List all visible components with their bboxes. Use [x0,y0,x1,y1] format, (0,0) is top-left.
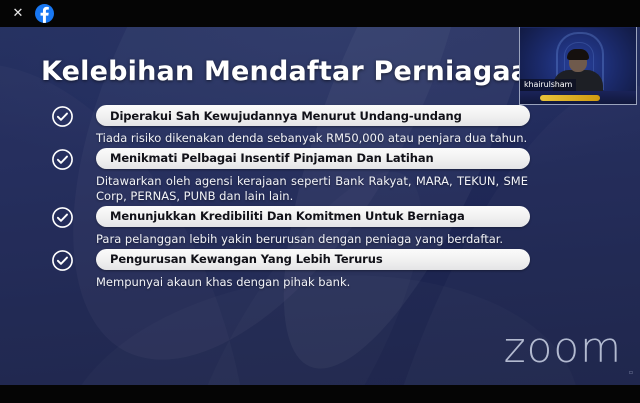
facebook-icon[interactable] [35,4,54,23]
benefits-list: Diperakui Sah Kewujudannya Menurut Undan… [0,105,640,292]
benefit-heading-pill: Menikmati Pelbagai Insentif Pinjaman Dan… [96,148,530,169]
close-icon-glyph: ✕ [13,7,24,20]
close-icon[interactable]: ✕ [6,2,30,26]
benefit-description: Tiada risiko dikenakan denda sebanyak RM… [96,131,528,146]
participant-name-label: khairulsham [520,79,576,91]
check-circle-icon [51,148,74,171]
benefit-heading: Menikmati Pelbagai Insentif Pinjaman Dan… [96,151,434,165]
broadcast-ticker-bar [540,95,600,101]
check-circle-icon [51,105,74,128]
video-feed: khairulsham [520,16,636,104]
speaker-video-tile[interactable]: khairulsham [519,15,637,105]
check-circle-icon [51,206,74,229]
benefit-heading-pill: Pengurusan Kewangan Yang Lebih Terurus [96,249,530,270]
top-browser-bar: ✕ [0,0,640,27]
benefit-heading: Pengurusan Kewangan Yang Lebih Terurus [96,252,383,266]
check-circle-icon [51,249,74,272]
benefit-heading: Diperakui Sah Kewujudannya Menurut Undan… [96,109,462,123]
benefit-heading-pill: Menunjukkan Kredibiliti Dan Komitmen Unt… [96,206,530,227]
list-item: Menunjukkan Kredibiliti Dan Komitmen Unt… [0,206,640,247]
list-item: Pengurusan Kewangan Yang Lebih Terurus M… [0,249,640,290]
bottom-chrome-bar [0,385,640,403]
speaker-hair [567,49,589,60]
zoom-screenshare-window: ✕ Kelebihan Mendaftar Perniagaan [0,0,640,403]
slide-title: Kelebihan Mendaftar Perniagaan [41,56,549,87]
list-item: Menikmati Pelbagai Insentif Pinjaman Dan… [0,148,640,204]
benefit-heading: Menunjukkan Kredibiliti Dan Komitmen Unt… [96,209,465,223]
list-item: Diperakui Sah Kewujudannya Menurut Undan… [0,105,640,146]
video-lower-third [520,91,636,104]
benefit-description: Ditawarkan oleh agensi kerajaan seperti … [96,174,528,204]
benefit-description: Para pelanggan lebih yakin berurusan den… [96,232,528,247]
benefit-description: Mempunyai akaun khas dengan pihak bank. [96,275,528,290]
zoom-watermark: zoom [504,327,622,369]
benefit-heading-pill: Diperakui Sah Kewujudannya Menurut Undan… [96,105,530,126]
corner-mark: ▫ [629,369,633,376]
